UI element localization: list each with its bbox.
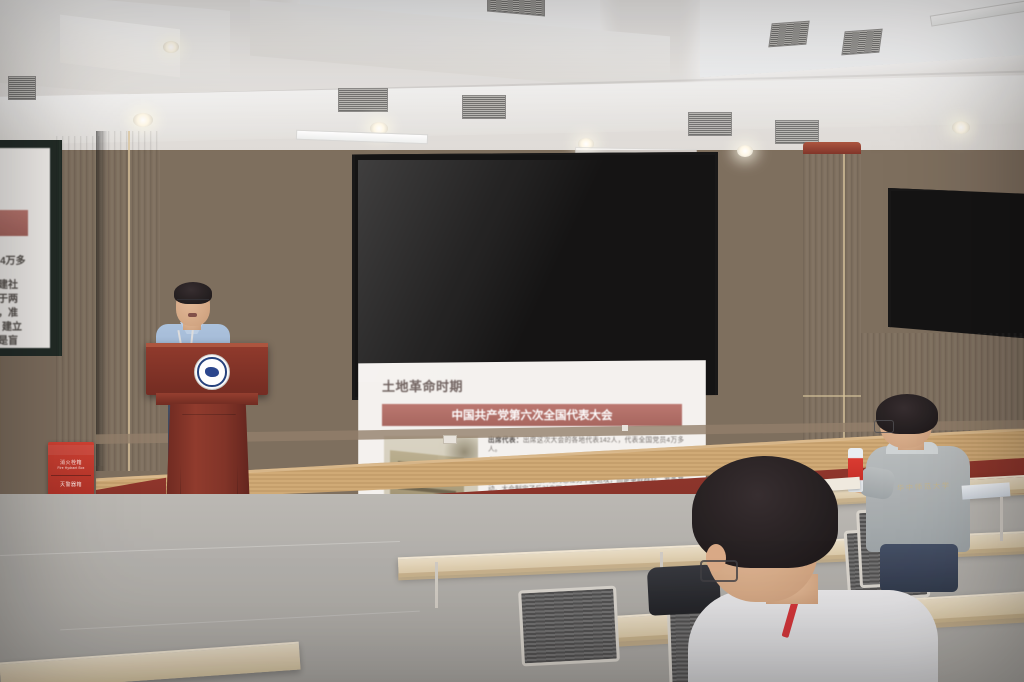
student-back-glasses <box>874 420 894 433</box>
left-slide-frag-4: 群众，准 <box>0 304 18 319</box>
podium-crest-emblem[interactable] <box>194 354 230 390</box>
student-front <box>688 450 958 682</box>
wall-vent-1 <box>8 76 36 100</box>
speaker-glasses <box>177 299 209 306</box>
chair-empty-1[interactable] <box>518 585 620 666</box>
wall-vent-4 <box>688 112 732 136</box>
left-screen-slide: 员4万多 半封建社 势处于两 群众，准 革命、建立 特别是盲 十分混乱。 <box>0 148 50 348</box>
wall-vent-3 <box>462 95 506 119</box>
podium-crest-ring <box>197 357 226 386</box>
lecture-hall-photo: 员4万多 半封建社 势处于两 群众，准 革命、建立 特别是盲 十分混乱。 土地革… <box>0 0 1024 682</box>
desk-leg-1 <box>435 562 438 608</box>
desk-leg-3 <box>1000 497 1003 541</box>
speaker-mouth <box>188 313 197 317</box>
fire-cabinet-line1: 消火栓箱 <box>48 459 94 466</box>
left-slide-frag-3: 势处于两 <box>0 290 18 305</box>
main-slide-section-title: 土地革命时期 <box>382 376 463 395</box>
left-slide-frag-2: 半封建社 <box>0 276 18 291</box>
ceiling-downlight-6 <box>952 121 970 134</box>
left-slide-frag-6: 特别是盲 <box>0 332 18 347</box>
podium-body-panel <box>180 414 238 502</box>
ceiling-vent-2 <box>768 21 809 48</box>
right-column-gold-trim-h <box>803 395 861 397</box>
ceiling-downlight-5 <box>737 145 753 157</box>
left-slide-banner <box>0 210 28 236</box>
left-column-gold-trim <box>128 131 130 471</box>
main-slide-banner-text: 中国共产党第六次全国代表大会 <box>452 407 613 423</box>
fire-cabinet-line2: Fire Hydrant Box <box>48 466 94 470</box>
left-column-shadow <box>96 131 108 471</box>
podium-crest-core <box>205 367 219 377</box>
ceiling-downlight-2 <box>133 113 153 127</box>
right-column-cap <box>803 142 861 154</box>
podium-skirt-top <box>156 393 258 405</box>
wall-outlet-2 <box>622 425 628 431</box>
wall-vent-5 <box>775 120 819 144</box>
right-column-gold-trim <box>843 142 845 442</box>
right-column-wood <box>803 142 861 442</box>
wall-vent-2 <box>338 88 388 112</box>
main-slide-banner: 中国共产党第六次全国代表大会 <box>382 404 682 426</box>
podium-top-edge <box>146 343 268 347</box>
ceiling-downlight-1 <box>163 41 179 53</box>
wall-outlet <box>443 435 457 444</box>
left-slide-frag-1: 员4万多 <box>0 252 26 267</box>
ceiling-vent-3 <box>841 29 882 56</box>
student-front-glasses <box>700 560 738 582</box>
body-label-0: 出席代表： <box>488 437 523 444</box>
left-slide-frag-5: 革命、建立 <box>0 318 22 333</box>
fire-cabinet-line3: 灭警器箱 <box>48 481 94 488</box>
right-screen-frame <box>888 188 1024 339</box>
